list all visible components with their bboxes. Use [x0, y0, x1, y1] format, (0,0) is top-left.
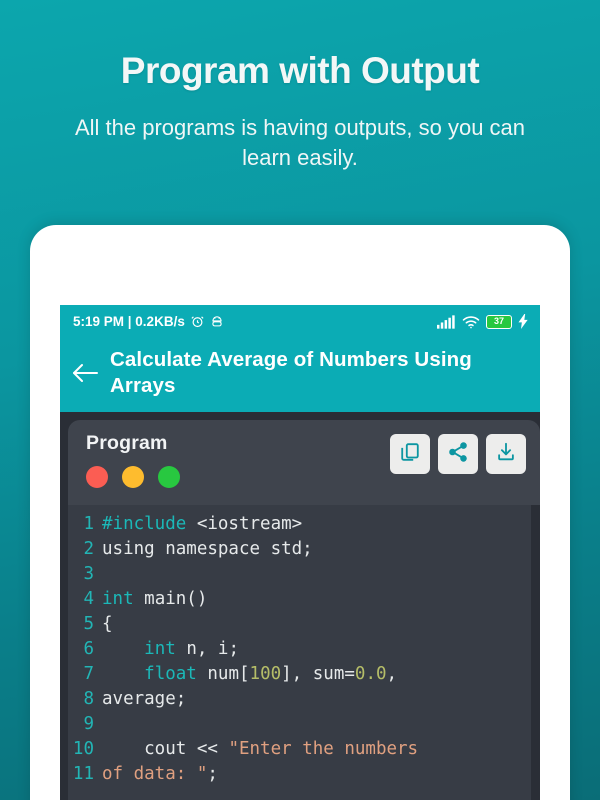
code-line-number: 4	[68, 587, 102, 612]
code-line: 9	[68, 712, 531, 737]
code-line-text: average;	[102, 687, 186, 712]
phone-mockup: 5:19 PM | 0.2KB/s	[30, 225, 570, 800]
code-line-text: #include <iostream>	[102, 512, 302, 537]
promo-header: Program with Output All the programs is …	[0, 0, 600, 172]
battery-level-label: 37	[494, 317, 504, 326]
program-card-left: Program	[86, 432, 180, 488]
code-token: main()	[144, 589, 207, 609]
code-token: 0.0	[355, 664, 387, 684]
code-token: #include	[102, 514, 197, 534]
code-line-number: 2	[68, 537, 102, 562]
maximize-dot-icon	[158, 466, 180, 488]
code-line-number: 9	[68, 712, 102, 737]
code-line-text: of data: ";	[102, 762, 218, 787]
code-token: of data: "	[102, 764, 207, 784]
code-token: num[	[207, 664, 249, 684]
code-line: 11of data: ";	[68, 762, 531, 787]
code-token	[102, 639, 144, 659]
code-token: using namespace std;	[102, 539, 313, 559]
status-bar-right: 37	[437, 314, 529, 329]
code-block: 1#include <iostream>2using namespace std…	[68, 512, 531, 787]
program-actions	[390, 434, 526, 474]
share-icon	[447, 441, 469, 468]
charging-bolt-icon	[518, 314, 529, 329]
wifi-icon	[462, 315, 480, 329]
program-label: Program	[86, 432, 180, 455]
share-button[interactable]	[438, 434, 478, 474]
code-token: 100	[250, 664, 282, 684]
code-line: 4int main()	[68, 587, 531, 612]
program-card-header: Program	[68, 432, 540, 488]
code-token: <iostream>	[197, 514, 302, 534]
app-store-promo-screenshot: Program with Output All the programs is …	[0, 0, 600, 800]
battery-indicator: 37	[486, 315, 512, 329]
code-line-number: 10	[68, 737, 102, 762]
code-line-text: using namespace std;	[102, 537, 313, 562]
minimize-dot-icon	[122, 466, 144, 488]
program-card: Program	[68, 420, 540, 800]
code-token: {	[102, 614, 113, 634]
code-token: ;	[207, 764, 218, 784]
android-icon	[210, 314, 224, 329]
code-line-text: {	[102, 612, 113, 637]
android-status-bar: 5:19 PM | 0.2KB/s	[60, 305, 540, 338]
code-scroll-area[interactable]: 1#include <iostream>2using namespace std…	[68, 505, 540, 800]
code-token: ], sum=	[281, 664, 355, 684]
alarm-icon	[190, 314, 205, 329]
code-token	[102, 664, 144, 684]
download-button[interactable]	[486, 434, 526, 474]
code-line: 7 float num[100], sum=0.0,	[68, 662, 531, 687]
code-line-number: 11	[68, 762, 102, 787]
code-line: 5{	[68, 612, 531, 637]
code-line-number: 5	[68, 612, 102, 637]
code-line-text: float num[100], sum=0.0,	[102, 662, 397, 687]
window-traffic-lights	[86, 466, 180, 488]
page-title: Calculate Average of Numbers Using Array…	[110, 347, 526, 399]
code-line-text: int n, i;	[102, 637, 239, 662]
code-line: 10 cout << "Enter the numbers	[68, 737, 531, 762]
code-line-number: 6	[68, 637, 102, 662]
code-token: average;	[102, 689, 186, 709]
code-token: cout <<	[102, 739, 228, 759]
code-line: 3	[68, 562, 531, 587]
promo-title: Program with Output	[0, 52, 600, 91]
code-line-text: cout << "Enter the numbers	[102, 737, 418, 762]
code-line: 6 int n, i;	[68, 637, 531, 662]
code-line: 2using namespace std;	[68, 537, 531, 562]
code-line-number: 3	[68, 562, 102, 587]
promo-subtitle: All the programs is having outputs, so y…	[0, 113, 600, 172]
copy-button[interactable]	[390, 434, 430, 474]
code-line-text: int main()	[102, 587, 207, 612]
back-arrow-icon[interactable]	[70, 362, 100, 384]
code-token: "Enter the numbers	[228, 739, 418, 759]
app-toolbar: Calculate Average of Numbers Using Array…	[60, 338, 540, 412]
code-line: 1#include <iostream>	[68, 512, 531, 537]
code-line-number: 7	[68, 662, 102, 687]
close-dot-icon	[86, 466, 108, 488]
copy-icon	[399, 441, 421, 468]
status-time-and-network-speed: 5:19 PM | 0.2KB/s	[73, 314, 185, 329]
program-area: Program	[60, 412, 540, 800]
cellular-signal-icon	[437, 315, 456, 329]
app-screen: 5:19 PM | 0.2KB/s	[60, 305, 540, 800]
code-line: 8average;	[68, 687, 531, 712]
download-icon	[495, 441, 517, 468]
status-bar-left: 5:19 PM | 0.2KB/s	[73, 314, 224, 329]
code-token: int	[102, 589, 144, 609]
code-token: int	[144, 639, 186, 659]
code-token: n, i;	[186, 639, 239, 659]
code-token: float	[144, 664, 207, 684]
code-line-number: 8	[68, 687, 102, 712]
code-line-number: 1	[68, 512, 102, 537]
code-token: ,	[387, 664, 398, 684]
